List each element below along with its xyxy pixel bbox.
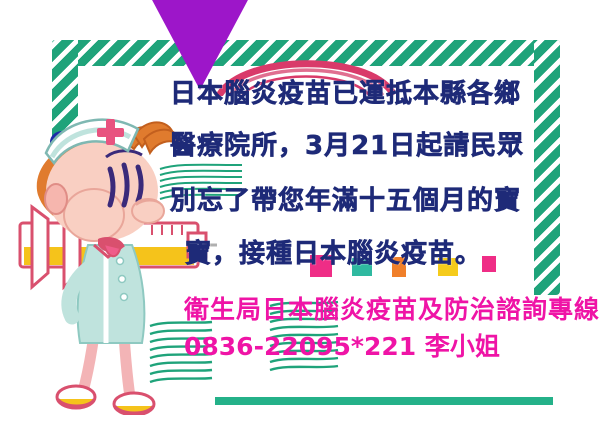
bottom-green-bar bbox=[215, 397, 553, 405]
message-line-1: 日本腦炎疫苗已運抵本縣各鄉 bbox=[170, 73, 521, 110]
color-block-5 bbox=[482, 256, 496, 272]
message-line-3: 別忘了帶您年滿十五個月的寶 bbox=[170, 180, 521, 217]
message-line-4: 寶，接種日本腦炎疫苗。 bbox=[185, 233, 482, 270]
frame-right-stripe bbox=[534, 40, 560, 295]
hotline-label: 衛生局日本腦炎疫苗及防治諮詢專線 bbox=[184, 290, 600, 326]
nurse-hand bbox=[132, 199, 164, 223]
hotline-number: 0836-22095*221 李小姐 bbox=[184, 327, 500, 363]
nurse-uniform bbox=[78, 245, 145, 343]
nurse-legs bbox=[57, 335, 154, 415]
poster-canvas: 日本腦炎疫苗已運抵本縣各鄉 醫療院所，3月21日起請民眾 別忘了帶您年滿十五個月… bbox=[0, 0, 600, 436]
message-line-2: 醫療院所，3月21日起請民眾 bbox=[170, 125, 524, 162]
